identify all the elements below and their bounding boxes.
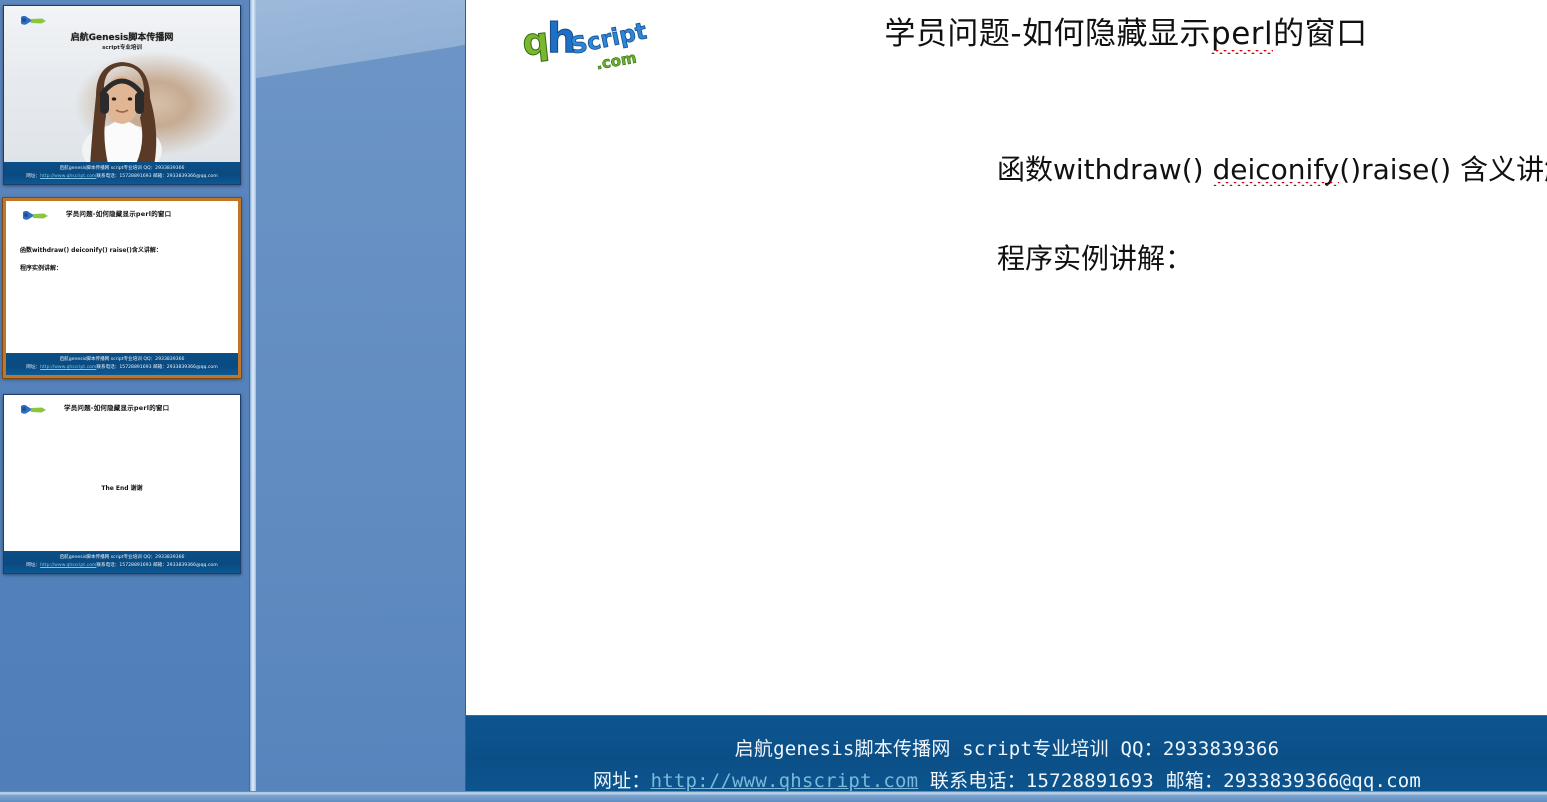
thumbnail-1-heading: 启航Genesis脚本传播网 xyxy=(4,30,240,43)
slide-body-line-2: 程序实例讲解： xyxy=(997,237,1193,277)
slide-title-suffix: 的窗口 xyxy=(1273,16,1368,52)
thumbnail-footer-label: 网址： xyxy=(26,365,40,370)
thumbnail-2-title: 学员问题-如何隐藏显示perl的窗口 xyxy=(66,208,232,218)
spellcheck-squiggle-icon xyxy=(1213,182,1340,186)
slide-canvas[interactable]: q h Script .com 学员问题-如何隐藏显示perl的窗口 函数wit… xyxy=(465,0,1547,802)
slide-title-perl: perl xyxy=(1211,16,1273,52)
thumbnail-footer-link[interactable]: http://www.qhscript.com xyxy=(40,365,96,370)
thumbnail-footer-line2: 网址：http://www.qhscript.com联系电话：157288916… xyxy=(4,562,240,568)
body-misspelled-word: deiconify xyxy=(1213,153,1340,186)
thumbnail-footer-rest: 联系电话：15728891693 邮箱：2933839366@qq.com xyxy=(96,365,217,370)
thumbnail-footer-line1: 启航genesis脚本传播网 script专业培训 QQ：2933839366 xyxy=(6,356,238,362)
thumbnail-footer-label: 网址： xyxy=(26,174,40,179)
slide-footer-url-label: 网址： xyxy=(593,770,651,792)
slide-thumbnail-1[interactable]: 启航Genesis脚本传播网 script专业培训 启航genesis脚本传播网… xyxy=(3,5,241,185)
slide-thumbnail-list[interactable]: 启航Genesis脚本传播网 script专业培训 启航genesis脚本传播网… xyxy=(0,0,250,802)
thumbnail-2-line2: 程序实例讲解： xyxy=(20,263,62,272)
thumbnail-canvas: 学员问题-如何隐藏显示perl的窗口 函数withdraw() deiconif… xyxy=(6,201,238,375)
slide-footer-line-2: 网址：http://www.qhscript.com 联系电话：15728891… xyxy=(466,766,1547,793)
title-slide-photo: 启航Genesis脚本传播网 script专业培训 xyxy=(4,6,240,164)
headphones-woman-photo xyxy=(62,46,182,164)
body-line1-part-c: ()raise() 含义讲解： xyxy=(1339,153,1547,186)
thumbnail-footer-rest: 联系电话：15728891693 邮箱：2933839366@qq.com xyxy=(96,174,217,179)
thumbnail-footer-link[interactable]: http://www.qhscript.com xyxy=(40,563,96,568)
slide-title: 学员问题-如何隐藏显示perl的窗口 xyxy=(756,8,1496,53)
thumbnail-1-subheading: script专业培训 xyxy=(4,43,240,51)
thumbnail-2-line1: 函数withdraw() deiconify() raise()含义讲解： xyxy=(20,245,162,254)
slide-thumbnail-3[interactable]: 学员问题-如何隐藏显示perl的窗口 The End 谢谢 启航genesis脚… xyxy=(3,394,241,574)
slide-title-prefix: 学员问题-如何隐藏显示 xyxy=(884,16,1211,52)
thumbnail-3-footer: 启航genesis脚本传播网 script专业培训 QQ：2933839366 … xyxy=(4,551,240,573)
qhscript-logo-icon xyxy=(20,208,54,224)
thumbnail-3-center-text: The End 谢谢 xyxy=(4,483,240,492)
slide-title-misspelled-word: perl xyxy=(1211,16,1273,52)
presentation-window: 启航Genesis脚本传播网 script专业培训 启航genesis脚本传播网… xyxy=(0,0,1547,802)
thumbnail-canvas: 启航Genesis脚本传播网 script专业培训 启航genesis脚本传播网… xyxy=(4,6,240,184)
window-bottom-edge xyxy=(0,795,1547,802)
spellcheck-squiggle-icon xyxy=(1211,50,1273,54)
thumbnail-footer-label: 网址： xyxy=(26,563,40,568)
thumbnail-footer-link[interactable]: http://www.qhscript.com xyxy=(40,174,96,179)
thumbnail-2-footer: 启航genesis脚本传播网 script专业培训 QQ：2933839366 … xyxy=(6,353,238,375)
background-sheen xyxy=(256,0,465,82)
thumbnail-footer-line2: 网址：http://www.qhscript.com联系电话：157288916… xyxy=(4,173,240,179)
thumbnail-footer-line1: 启航genesis脚本传播网 script专业培训 QQ：2933839366 xyxy=(4,554,240,560)
slide-footer-url-link[interactable]: http://www.qhscript.com xyxy=(651,770,919,792)
qhscript-logo-icon: q h Script .com xyxy=(521,12,651,74)
pane-splitter[interactable] xyxy=(250,0,256,802)
slide-footer-band: 启航genesis脚本传播网 script专业培训 QQ：2933839366 … xyxy=(466,715,1547,802)
thumbnail-footer-line1: 启航genesis脚本传播网 script专业培训 QQ：2933839366 xyxy=(4,165,240,171)
thumbnail-canvas: 学员问题-如何隐藏显示perl的窗口 The End 谢谢 启航genesis脚… xyxy=(4,395,240,573)
thumbnail-footer-line2: 网址：http://www.qhscript.com联系电话：157288916… xyxy=(6,364,238,370)
body-line1-part-a: 函数withdraw() xyxy=(997,153,1213,186)
slide-footer-line-1: 启航genesis脚本传播网 script专业培训 QQ：2933839366 xyxy=(466,734,1547,761)
slide-thumbnail-2[interactable]: 学员问题-如何隐藏显示perl的窗口 函数withdraw() deiconif… xyxy=(3,198,241,378)
slide-footer-contact: 联系电话：15728891693 邮箱：2933839366@qq.com xyxy=(918,770,1421,792)
thumbnail-3-title: 学员问题-如何隐藏显示perl的窗口 xyxy=(64,402,234,412)
slide-body-line-1: 函数withdraw() deiconify()raise() 含义讲解： xyxy=(997,148,1547,188)
qhscript-logo-icon xyxy=(18,402,52,418)
thumbnail-1-footer: 启航genesis脚本传播网 script专业培训 QQ：2933839366 … xyxy=(4,162,240,184)
workspace-background xyxy=(256,0,465,802)
thumbnail-footer-rest: 联系电话：15728891693 邮箱：2933839366@qq.com xyxy=(96,563,217,568)
qhscript-logo-icon xyxy=(18,13,52,29)
